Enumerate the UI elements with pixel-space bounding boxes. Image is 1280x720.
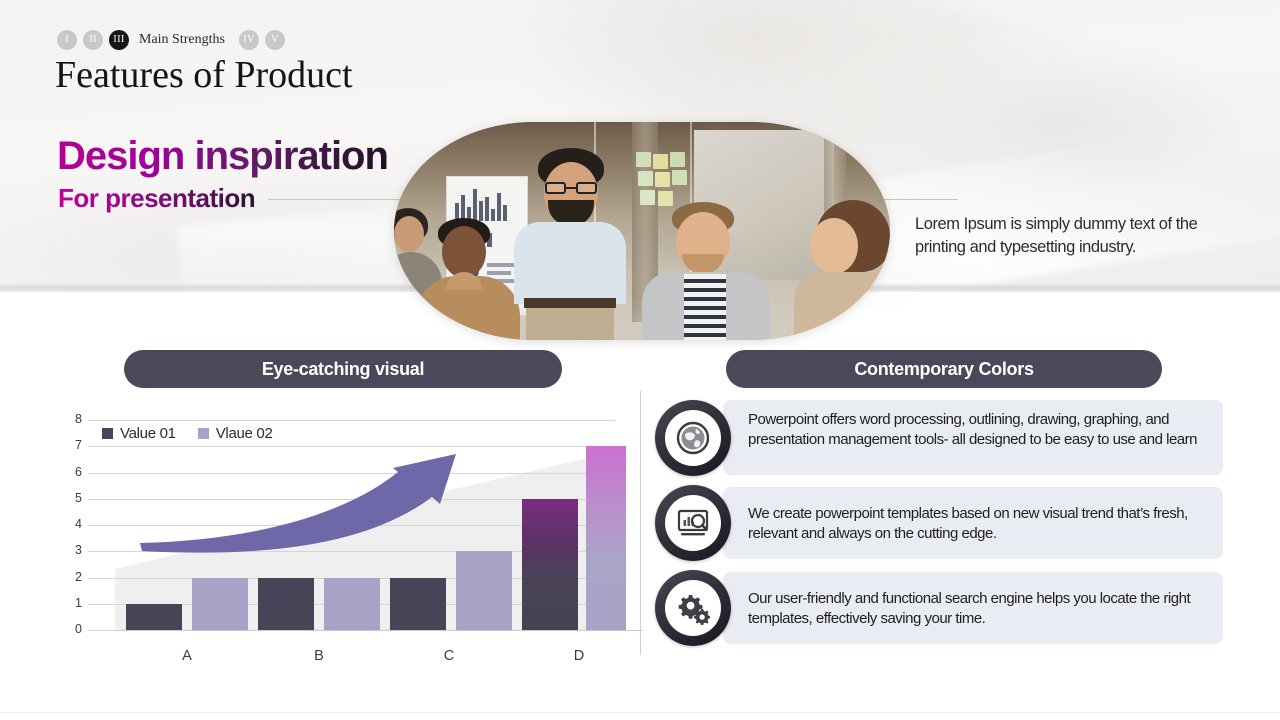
y-tick-7: 7 [62,438,82,452]
growth-trend-arrow [88,420,615,630]
y-tick-3: 3 [62,543,82,557]
y-tick-4: 4 [62,517,82,531]
feature-text-3: Our user-friendly and functional search … [748,589,1198,628]
y-tick-8: 8 [62,412,82,426]
x-label-D: D [549,648,609,664]
slide-canvas: I II III Main Strengths IV V Features of… [0,0,1280,720]
section-pill-contemporary-colors: Contemporary Colors [726,350,1162,388]
monitor-chart-search-icon [655,485,731,561]
page-title: Features of Product [55,53,353,97]
feature-item-1[interactable] [655,400,731,476]
y-tick-1: 1 [62,596,82,610]
nav-step-2[interactable]: II [83,30,103,50]
gears-icon-glyph [676,591,710,625]
feature-item-2[interactable] [655,485,731,561]
nav-step-1[interactable]: I [57,30,77,50]
globe-icon [655,400,731,476]
y-tick-5: 5 [62,491,82,505]
gears-icon [655,570,731,646]
monitor-chart-search-icon-glyph [675,506,711,540]
legend-item-value01: Value 01 [102,425,176,442]
chart-legend: Value 01 Vlaue 02 [102,425,273,442]
legend-swatch-dark [102,428,113,439]
y-tick-0: 0 [62,622,82,636]
legend-item-value02: Vlaue 02 [198,425,273,442]
x-label-C: C [419,648,479,664]
chart-plot-area: 8 7 6 5 4 3 2 1 0 [88,420,615,630]
slide-bottom-divider [0,712,1280,713]
x-label-B: B [289,648,349,664]
y-tick-6: 6 [62,465,82,479]
panel-divider [640,391,641,655]
x-label-A: A [157,648,217,664]
legend-label-value01: Value 01 [120,425,176,442]
y-tick-2: 2 [62,570,82,584]
legend-swatch-light [198,428,209,439]
feature-item-3[interactable] [655,570,731,646]
nav-step-3-active[interactable]: III [109,30,129,50]
hero-paragraph: Lorem Ipsum is simply dummy text of the … [915,213,1225,260]
section-pill-eye-catching-visual: Eye-catching visual [124,350,562,388]
x-axis-line [115,630,643,631]
hero-photo [394,122,890,340]
legend-label-value02: Vlaue 02 [216,425,273,442]
feature-text-1: Powerpoint offers word processing, outli… [748,410,1198,449]
bar-chart: 8 7 6 5 4 3 2 1 0 [60,406,630,656]
nav-label: Main Strengths [139,32,225,48]
feature-text-2: We create powerpoint templates based on … [748,504,1198,543]
nav-step-5[interactable]: V [265,30,285,50]
breadcrumb: I II III Main Strengths IV V [57,30,285,50]
headline: Design inspiration [57,134,388,179]
subheadline: For presentation [58,183,255,214]
nav-step-4[interactable]: IV [239,30,259,50]
globe-icon-glyph [676,421,710,455]
office-team-meeting-photo [394,122,890,340]
